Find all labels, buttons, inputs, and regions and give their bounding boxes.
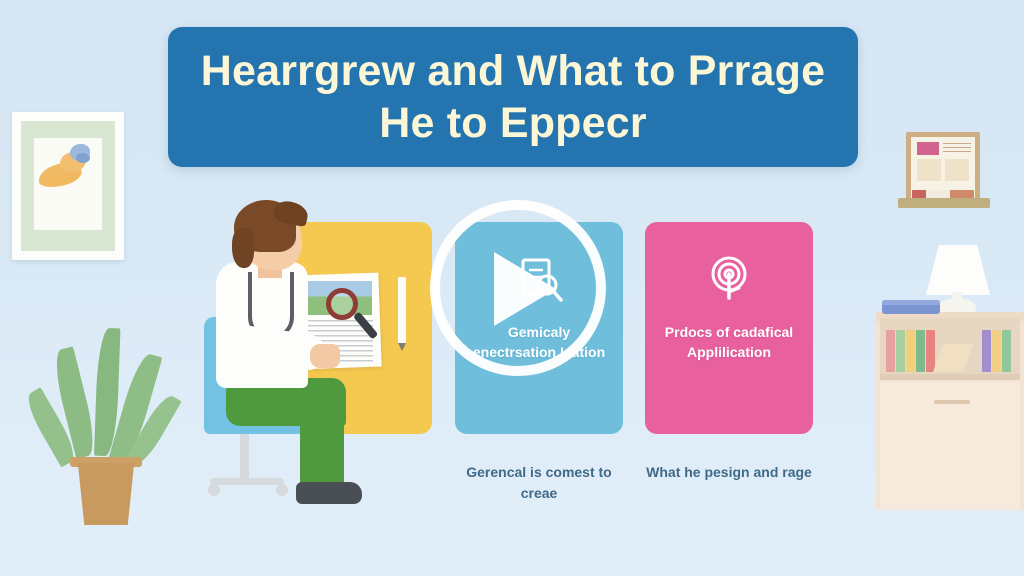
feature-card-pink[interactable]: Prdocs of cadafical Applilication: [645, 222, 813, 434]
video-frame: Hearrgrew and What to Prrage He to Eppec…: [0, 0, 1024, 576]
book-icon: [906, 330, 915, 372]
picture-pink-shape-icon: [917, 142, 939, 155]
book-icon: [926, 330, 935, 372]
picture-pane: [917, 159, 941, 181]
caption-pink: What he pesign and rage: [643, 462, 815, 483]
artwork-blue-shape2-icon: [76, 153, 90, 163]
picture-text-lines: [943, 143, 971, 155]
wall-art-canvas: [34, 138, 102, 230]
chair-wheel: [208, 484, 220, 496]
book-icon: [1002, 330, 1011, 372]
title-line-2: He to Eppecr: [379, 97, 647, 149]
doctor-hand: [310, 344, 340, 368]
caption-blue: Gerencal is comest to creae: [453, 462, 625, 504]
picture-pane: [945, 159, 969, 181]
play-button[interactable]: [430, 200, 606, 376]
book-icon: [886, 330, 895, 372]
target-radar-icon: [701, 252, 757, 308]
plant-pot: [74, 463, 138, 525]
bookcase-divider: [880, 374, 1020, 380]
wall-shelf-board: [898, 198, 990, 208]
wall-art-frame: [12, 112, 124, 260]
potted-plant: [46, 306, 166, 531]
book-icon: [992, 330, 1001, 372]
magnifier-icon: [326, 288, 358, 320]
cabinet-handle: [934, 400, 970, 404]
pencil-icon: [398, 277, 406, 343]
title-line-1: Hearrgrew and What to Prrage: [201, 45, 825, 97]
book-icon: [982, 330, 991, 372]
play-triangle-icon: [494, 252, 556, 326]
chair-base: [210, 478, 284, 485]
blue-storage-box-lid: [882, 300, 940, 305]
doctor-shoe: [296, 482, 362, 504]
chair-wheel: [276, 484, 288, 496]
book-icon: [896, 330, 905, 372]
feature-card-pink-text: Prdocs of cadafical Applilication: [645, 322, 813, 362]
title-banner: Hearrgrew and What to Prrage He to Eppec…: [168, 27, 858, 167]
chair-post: [240, 432, 249, 482]
doctor-hair-side: [232, 228, 254, 268]
book-icon: [916, 330, 925, 372]
